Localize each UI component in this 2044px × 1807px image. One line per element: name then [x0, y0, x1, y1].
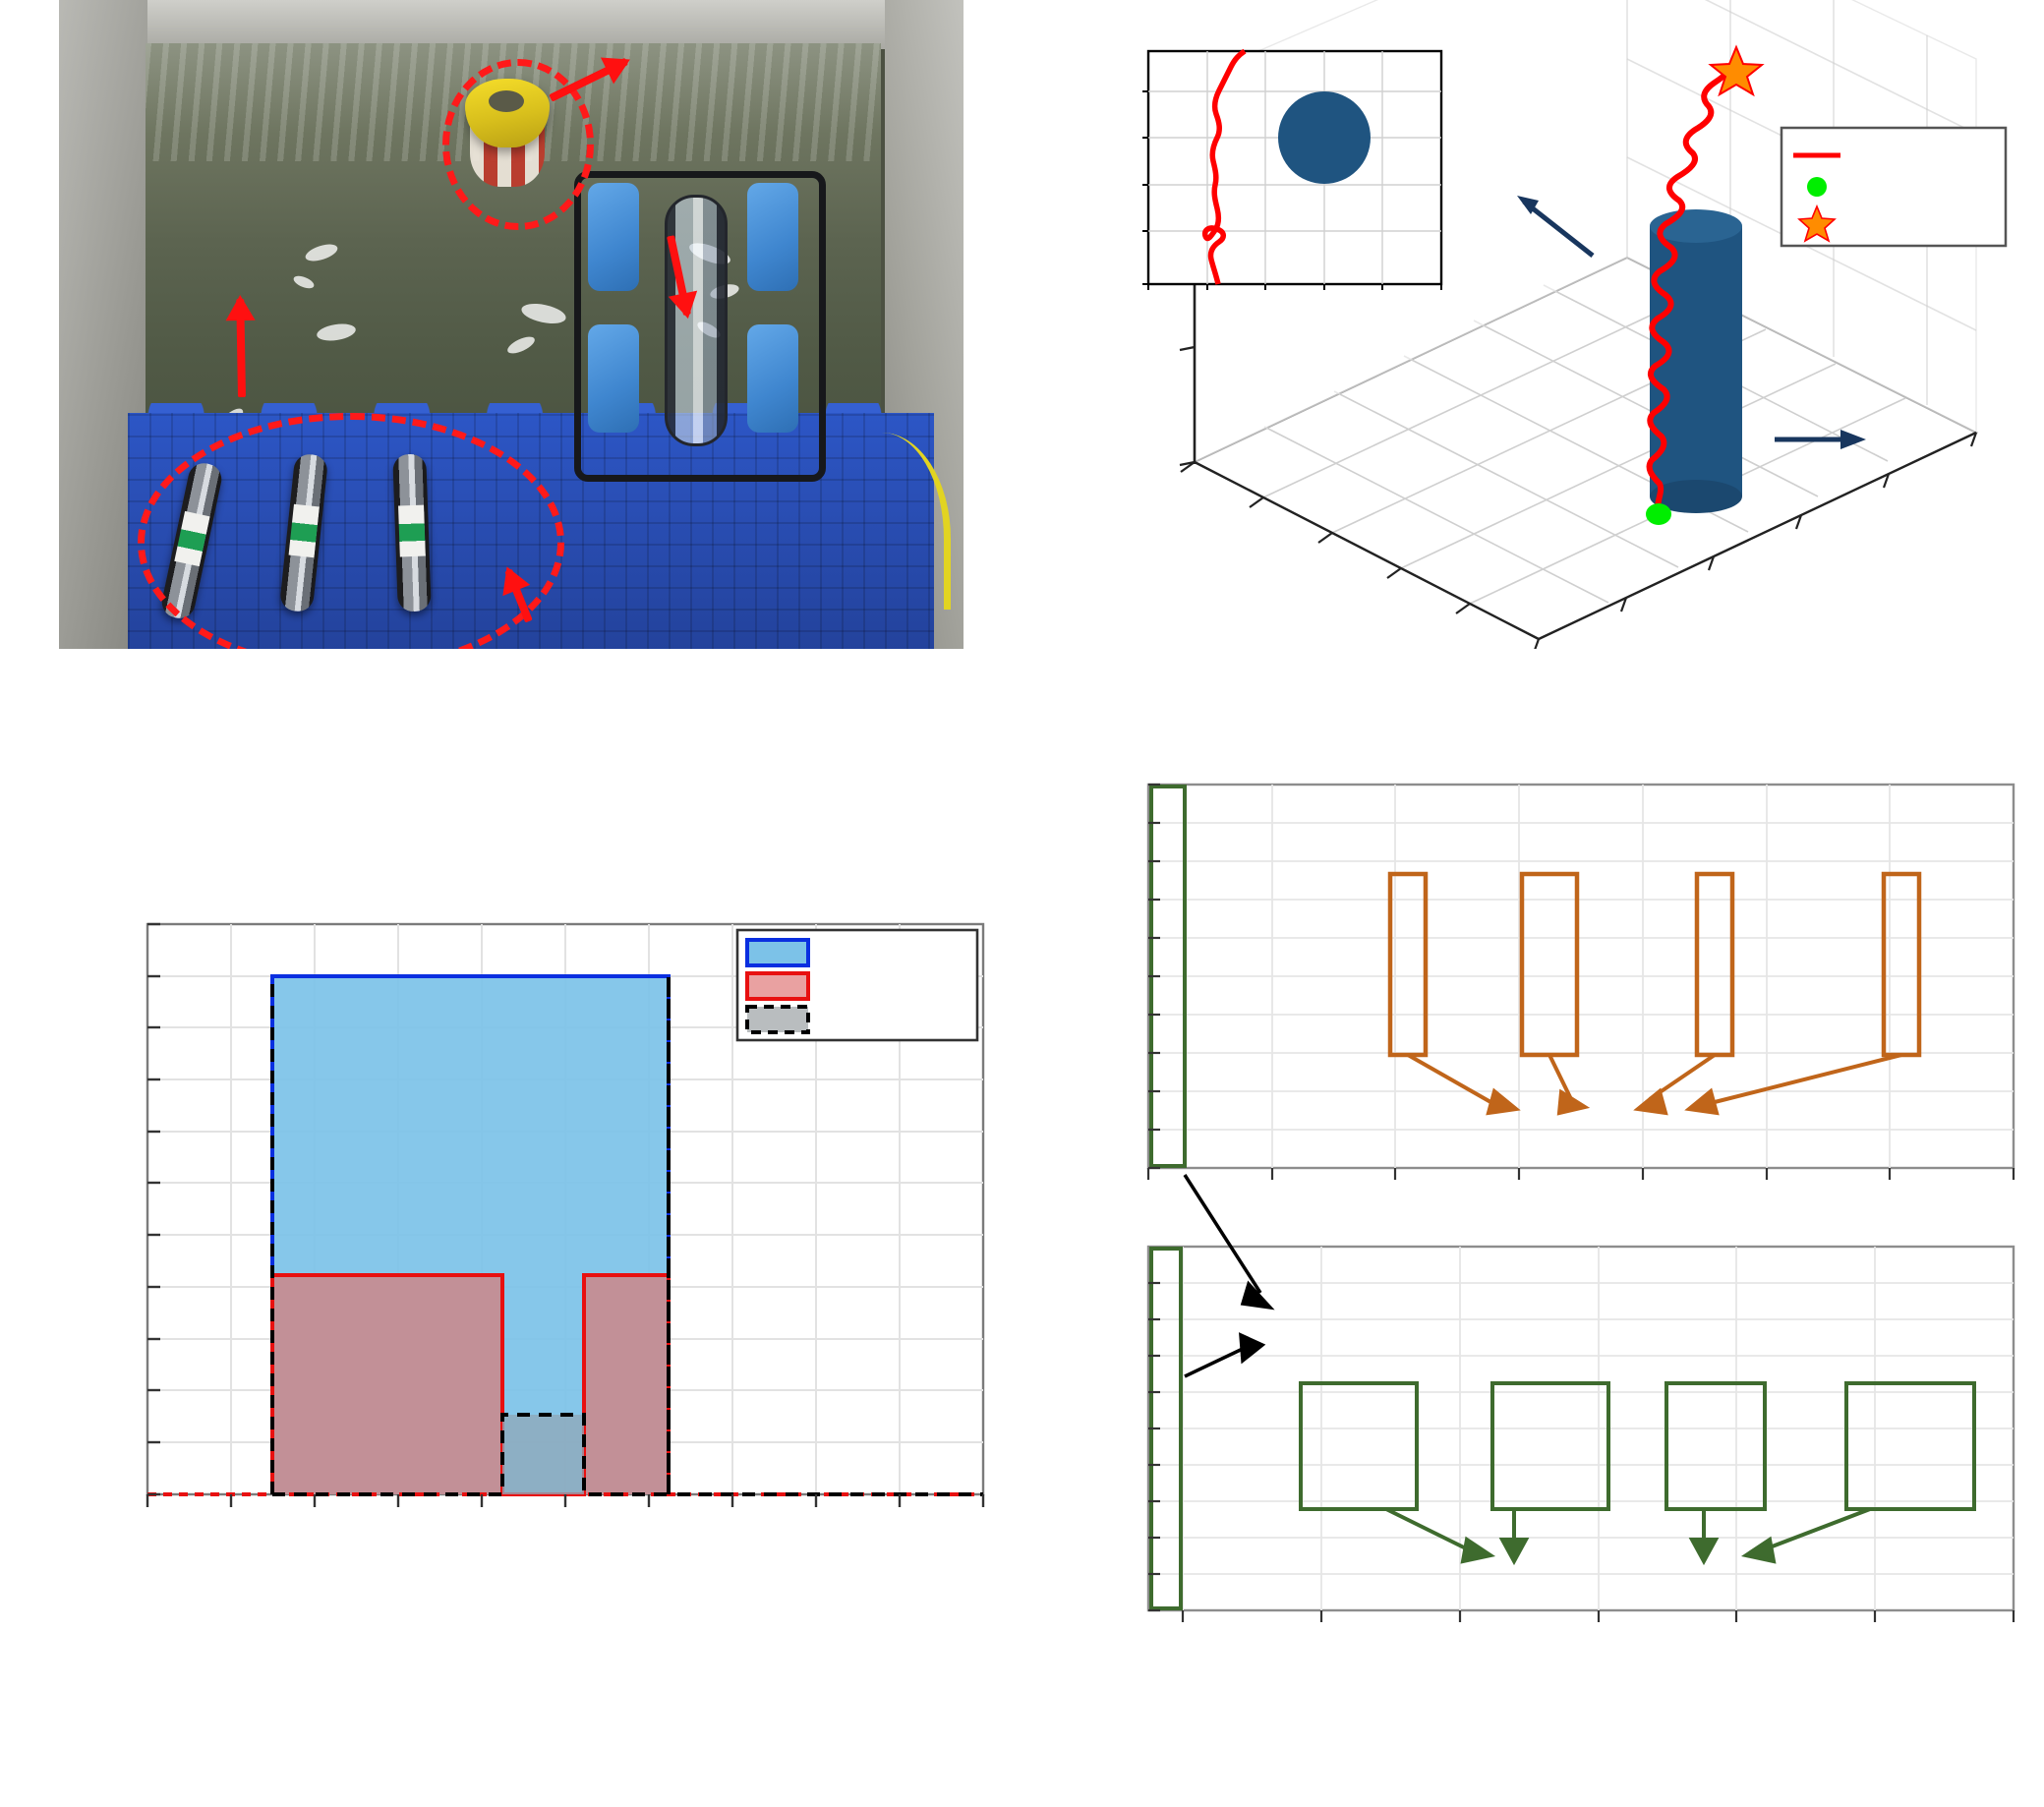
ofdm-chart — [1148, 1175, 2014, 1622]
ofdm-y-axis-label-svg — [1022, 1247, 1101, 1640]
figure-root — [0, 0, 2044, 1807]
ocdm-chart — [1148, 785, 2014, 1180]
trajectory-legend — [1781, 128, 2006, 246]
inset-obstacle-circle — [1278, 91, 1371, 184]
buoy-arrow — [236, 299, 246, 397]
bandwidth-legend — [737, 930, 977, 1040]
ofdm-axis-labels-svg — [1022, 1622, 2044, 1740]
auv-vehicle — [580, 177, 806, 462]
panel-d-waveforms — [1022, 757, 2044, 1642]
auv-float — [747, 183, 798, 291]
panel-c-bandwidth — [0, 885, 1022, 1593]
pool-back-wall — [118, 0, 905, 49]
panel-a-photo — [59, 0, 964, 649]
auv-float — [747, 324, 798, 433]
auv-float — [588, 183, 639, 291]
trajectory-3d-svg — [1042, 0, 2025, 649]
top-view-inset — [1142, 51, 1441, 290]
ofdm-x-ticks — [1183, 1610, 2014, 1622]
waveform-charts-svg — [1022, 757, 2044, 1642]
bandwidth-chart-svg — [0, 885, 1022, 1593]
ocdm-x-ticks — [1148, 1168, 2014, 1180]
auv-float — [588, 324, 639, 433]
panel-b-trajectory — [1042, 0, 2025, 649]
start-point-marker — [1646, 503, 1671, 525]
